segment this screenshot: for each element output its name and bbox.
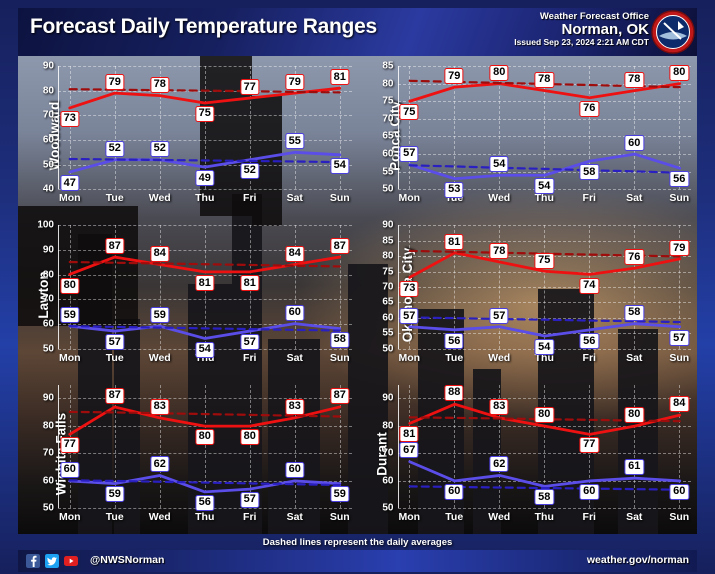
high-temp-label: 83: [150, 399, 169, 415]
low-temp-label: 52: [150, 141, 169, 157]
y-axis-tick-label: 90: [43, 61, 54, 72]
low-temp-label: 60: [285, 462, 304, 478]
charts-background: Woodward405060708090MonTueWedThuFriSatSu…: [18, 56, 697, 534]
low-temp-label: 59: [60, 307, 79, 323]
y-axis-tick-label: 60: [43, 318, 54, 329]
chart-panel: Woodward405060708090MonTueWedThuFriSatSu…: [18, 56, 358, 215]
x-axis-tick-label: Sun: [330, 511, 350, 523]
y-axis-tick-label: 65: [382, 131, 393, 142]
high-temp-label: 81: [240, 275, 259, 291]
x-axis-tick-label: Tue: [445, 352, 463, 364]
x-axis-tick-label: Wed: [488, 192, 510, 204]
x-axis-tick-label: Sun: [330, 192, 350, 204]
y-axis-tick-label: 50: [43, 343, 54, 354]
gridline-horizontal: [58, 189, 352, 190]
x-axis-tick-label: Thu: [195, 192, 214, 204]
x-axis-tick-label: Sat: [626, 511, 642, 523]
y-axis-tick-label: 75: [382, 266, 393, 277]
x-axis-tick-label: Fri: [583, 352, 596, 364]
y-axis-tick-label: 60: [43, 134, 54, 145]
youtube-icon[interactable]: [64, 554, 78, 568]
graphic-frame: Forecast Daily Temperature Ranges Weathe…: [0, 0, 715, 574]
facebook-icon[interactable]: [26, 554, 40, 568]
high-temp-label: 76: [580, 101, 599, 117]
y-axis-tick-label: 60: [382, 149, 393, 160]
x-axis-tick-label: Sat: [287, 511, 303, 523]
x-axis-tick-label: Sun: [669, 192, 689, 204]
x-axis-tick-label: Tue: [106, 511, 124, 523]
x-axis-tick-label: Tue: [445, 511, 463, 523]
low-temp-label: 53: [445, 182, 464, 198]
y-axis-tick-label: 100: [37, 220, 54, 231]
y-axis-tick-label: 70: [382, 113, 393, 124]
x-axis-tick-label: Sat: [287, 352, 303, 364]
low-temp-label: 52: [240, 163, 259, 179]
low-temp-label: 56: [445, 333, 464, 349]
high-temp-label: 73: [400, 281, 419, 297]
low-temp-label: 60: [625, 135, 644, 151]
y-axis-tick-label: 90: [43, 244, 54, 255]
high-temp-label: 80: [670, 65, 689, 81]
high-temp-label: 80: [535, 407, 554, 423]
y-axis-tick-label: 60: [382, 312, 393, 323]
low-temp-label: 59: [330, 486, 349, 502]
charts-grid: Woodward405060708090MonTueWedThuFriSatSu…: [18, 56, 697, 534]
y-axis-tick-label: 85: [382, 235, 393, 246]
series-line-normal-low: [409, 165, 679, 172]
x-axis-tick-label: Wed: [488, 352, 510, 364]
high-temp-label: 81: [400, 426, 419, 442]
chart-note: Dashed lines represent the daily average…: [18, 537, 697, 548]
y-axis-tick-label: 70: [43, 294, 54, 305]
high-temp-label: 81: [195, 275, 214, 291]
y-axis-tick-label: 60: [43, 475, 54, 486]
chart-plot-area: 5060708090MonTueWedThuFriSatSun778783808…: [58, 385, 352, 508]
y-axis-tick-label: 50: [382, 502, 393, 513]
high-temp-label: 78: [150, 77, 169, 93]
y-axis-tick-label: 80: [382, 420, 393, 431]
high-temp-label: 81: [330, 69, 349, 85]
x-axis-tick-label: Fri: [583, 192, 596, 204]
issued-timestamp: Issued Sep 23, 2024 2:21 AM CDT: [514, 38, 649, 47]
chart-plot-area: 5060708090100MonTueWedThuFriSatSun808784…: [58, 225, 352, 348]
y-axis-tick-label: 40: [43, 184, 54, 195]
x-axis-tick-label: Fri: [243, 511, 256, 523]
low-temp-label: 61: [625, 459, 644, 475]
high-temp-label: 79: [285, 74, 304, 90]
y-axis-tick-label: 75: [382, 96, 393, 107]
y-axis-tick-label: 50: [43, 159, 54, 170]
high-temp-label: 77: [60, 437, 79, 453]
high-temp-label: 78: [625, 72, 644, 88]
low-temp-label: 54: [535, 178, 554, 194]
office-block: Weather Forecast Office Norman, OK Issue…: [514, 12, 649, 48]
x-axis-tick-label: Tue: [106, 352, 124, 364]
y-axis-tick-label: 50: [382, 184, 393, 195]
chart-panel: Ponca City5055606570758085MonTueWedThuFr…: [358, 56, 698, 215]
y-axis-tick-label: 85: [382, 61, 393, 72]
y-axis-tick-label: 80: [382, 251, 393, 262]
twitter-icon[interactable]: [45, 554, 59, 568]
social-handle[interactable]: @NWSNorman: [90, 554, 164, 566]
high-temp-label: 78: [490, 243, 509, 259]
y-axis-tick-label: 80: [43, 420, 54, 431]
high-temp-label: 84: [150, 246, 169, 262]
low-temp-label: 49: [195, 170, 214, 186]
low-temp-label: 62: [490, 456, 509, 472]
low-temp-label: 56: [195, 495, 214, 511]
chart-panel: Durant5060708090MonTueWedThuFriSatSun818…: [358, 375, 698, 534]
high-temp-label: 80: [240, 429, 259, 445]
chart-panel: Oklahoma City505560657075808590MonTueWed…: [358, 215, 698, 374]
high-temp-label: 88: [445, 385, 464, 401]
x-axis-tick-label: Sat: [287, 192, 303, 204]
low-temp-label: 56: [580, 333, 599, 349]
high-temp-label: 77: [240, 79, 259, 95]
low-temp-label: 58: [535, 489, 554, 505]
high-temp-label: 87: [105, 238, 124, 254]
y-axis-tick-label: 70: [382, 281, 393, 292]
chart-plot-area: 5060708090MonTueWedThuFriSatSun818883807…: [398, 385, 692, 508]
chart-panel: Wichita Falls5060708090MonTueWedThuFriSa…: [18, 375, 358, 534]
low-temp-label: 58: [580, 164, 599, 180]
high-temp-label: 87: [330, 238, 349, 254]
y-axis-tick-label: 80: [382, 78, 393, 89]
high-temp-label: 81: [445, 234, 464, 250]
high-temp-label: 87: [330, 388, 349, 404]
x-axis-tick-label: Tue: [106, 192, 124, 204]
high-temp-label: 75: [400, 104, 419, 120]
low-temp-label: 59: [150, 307, 169, 323]
low-temp-label: 58: [625, 305, 644, 321]
high-temp-label: 84: [670, 396, 689, 412]
y-axis-tick-label: 60: [382, 475, 393, 486]
low-temp-label: 56: [670, 171, 689, 187]
low-temp-label: 59: [105, 486, 124, 502]
low-temp-label: 57: [240, 334, 259, 350]
low-temp-label: 55: [285, 133, 304, 149]
low-temp-label: 54: [490, 156, 509, 172]
website-link[interactable]: weather.gov/norman: [587, 554, 689, 566]
low-temp-label: 60: [670, 484, 689, 500]
x-axis-tick-label: Mon: [398, 352, 420, 364]
high-temp-label: 79: [105, 74, 124, 90]
high-temp-label: 75: [195, 106, 214, 122]
high-temp-label: 76: [625, 249, 644, 265]
low-temp-label: 60: [60, 462, 79, 478]
low-temp-label: 57: [240, 492, 259, 508]
y-axis-tick-label: 50: [43, 502, 54, 513]
y-axis-tick-label: 70: [43, 110, 54, 121]
x-axis-tick-label: Wed: [149, 192, 171, 204]
x-axis-tick-label: Mon: [398, 511, 420, 523]
y-axis-tick-label: 50: [382, 343, 393, 354]
high-temp-label: 79: [670, 240, 689, 256]
low-temp-label: 47: [60, 175, 79, 191]
low-temp-label: 57: [400, 146, 419, 162]
x-axis-tick-label: Fri: [243, 192, 256, 204]
x-axis-tick-label: Mon: [398, 192, 420, 204]
high-temp-label: 79: [445, 68, 464, 84]
x-axis-tick-label: Sun: [669, 511, 689, 523]
low-temp-label: 67: [400, 442, 419, 458]
low-temp-label: 52: [105, 141, 124, 157]
low-temp-label: 54: [330, 158, 349, 174]
low-temp-label: 60: [285, 305, 304, 321]
high-temp-label: 80: [490, 65, 509, 81]
x-axis-tick-label: Mon: [59, 352, 81, 364]
y-axis-tick-label: 55: [382, 166, 393, 177]
page-title: Forecast Daily Temperature Ranges: [30, 15, 377, 39]
header-bar: Forecast Daily Temperature Ranges Weathe…: [18, 8, 697, 56]
office-name: Norman, OK: [514, 22, 649, 38]
low-temp-label: 58: [330, 332, 349, 348]
high-temp-label: 78: [535, 72, 554, 88]
high-temp-label: 80: [195, 429, 214, 445]
high-temp-label: 77: [580, 437, 599, 453]
y-axis-tick-label: 70: [43, 448, 54, 459]
x-axis-tick-label: Thu: [535, 511, 554, 523]
x-axis-tick-label: Thu: [195, 511, 214, 523]
low-temp-label: 54: [535, 339, 554, 355]
low-temp-label: 60: [580, 484, 599, 500]
x-axis-tick-label: Wed: [149, 511, 171, 523]
chart-series-layer: [398, 225, 692, 348]
low-temp-label: 54: [195, 342, 214, 358]
low-temp-label: 60: [445, 484, 464, 500]
high-temp-label: 83: [490, 399, 509, 415]
high-temp-label: 80: [625, 407, 644, 423]
y-axis-tick-label: 90: [43, 393, 54, 404]
y-axis-tick-label: 70: [382, 448, 393, 459]
high-temp-label: 87: [105, 388, 124, 404]
y-axis-tick-label: 90: [382, 393, 393, 404]
chart-plot-area: 405060708090MonTueWedThuFriSatSun7379787…: [58, 66, 352, 189]
low-temp-label: 57: [400, 308, 419, 324]
x-axis-tick-label: Sat: [626, 192, 642, 204]
chart-plot-area: 505560657075808590MonTueWedThuFriSatSun7…: [398, 225, 692, 348]
x-axis-tick-label: Wed: [149, 352, 171, 364]
low-temp-label: 57: [490, 308, 509, 324]
high-temp-label: 74: [580, 278, 599, 294]
x-axis-tick-label: Sat: [626, 352, 642, 364]
y-axis-tick-label: 90: [382, 220, 393, 231]
high-temp-label: 75: [535, 253, 554, 269]
y-axis-tick-label: 55: [382, 328, 393, 339]
x-axis-tick-label: Wed: [488, 511, 510, 523]
high-temp-label: 80: [60, 278, 79, 294]
x-axis-tick-label: Fri: [243, 352, 256, 364]
x-axis-tick-label: Sun: [330, 352, 350, 364]
footer-bar: @NWSNorman weather.gov/norman: [18, 550, 697, 572]
nws-seal-icon: [651, 10, 695, 54]
high-temp-label: 73: [60, 111, 79, 127]
low-temp-label: 62: [150, 456, 169, 472]
y-axis-tick-label: 80: [43, 85, 54, 96]
high-temp-label: 83: [285, 399, 304, 415]
gridline-horizontal: [398, 508, 692, 509]
y-axis-tick-label: 80: [43, 269, 54, 280]
x-axis-tick-label: Mon: [59, 511, 81, 523]
x-axis-tick-label: Fri: [583, 511, 596, 523]
y-axis-tick-label: 65: [382, 297, 393, 308]
x-axis-tick-label: Mon: [59, 192, 81, 204]
chart-plot-area: 5055606570758085MonTueWedThuFriSatSun757…: [398, 66, 692, 189]
high-temp-label: 84: [285, 246, 304, 262]
x-axis-tick-label: Sun: [669, 352, 689, 364]
low-temp-label: 57: [670, 330, 689, 346]
chart-series-layer: [58, 385, 352, 508]
chart-panel: Lawton5060708090100MonTueWedThuFriSatSun…: [18, 215, 358, 374]
low-temp-label: 57: [105, 334, 124, 350]
